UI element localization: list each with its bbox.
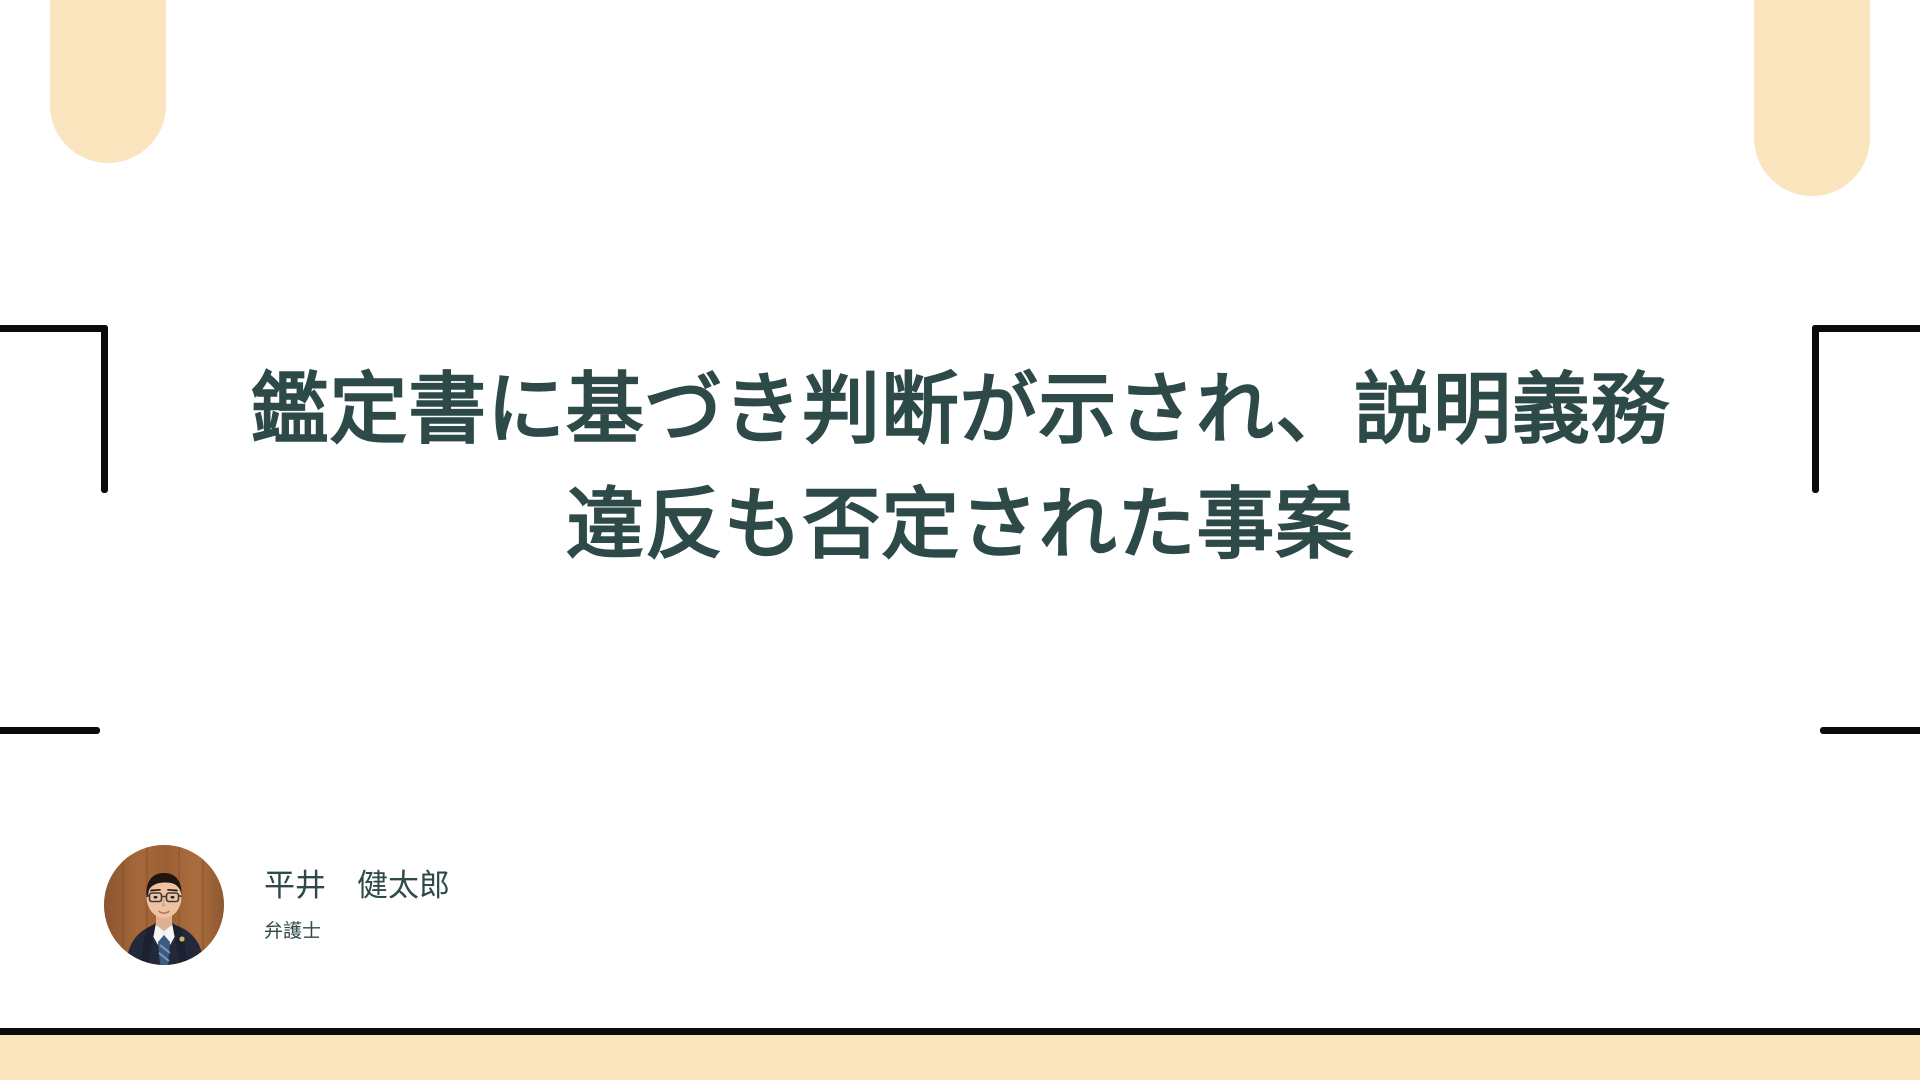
footer-band — [0, 1035, 1920, 1080]
title-line-2: 違反も否定された事案 — [0, 467, 1920, 582]
presenter-role: 弁護士 — [264, 920, 450, 945]
presenter-text: 平井 健太郎 弁護士 — [264, 866, 450, 945]
rule-bottom-left — [0, 727, 100, 734]
slide-title: 鑑定書に基づき判断が示され、説明義務 違反も否定された事案 — [0, 352, 1920, 581]
title-line-1: 鑑定書に基づき判断が示され、説明義務 — [0, 352, 1920, 467]
avatar — [104, 845, 224, 965]
decor-pill-right — [1754, 0, 1870, 196]
bracket-top-right-horizontal — [1812, 325, 1920, 332]
presenter-block: 平井 健太郎 弁護士 — [104, 845, 450, 965]
decor-pill-left — [50, 0, 166, 163]
presenter-name: 平井 健太郎 — [264, 866, 450, 906]
presentation-slide: 鑑定書に基づき判断が示され、説明義務 違反も否定された事案 — [0, 0, 1920, 1080]
rule-bottom-right — [1820, 727, 1920, 734]
bracket-top-left-horizontal — [0, 325, 108, 332]
footer-rule — [0, 1028, 1920, 1035]
